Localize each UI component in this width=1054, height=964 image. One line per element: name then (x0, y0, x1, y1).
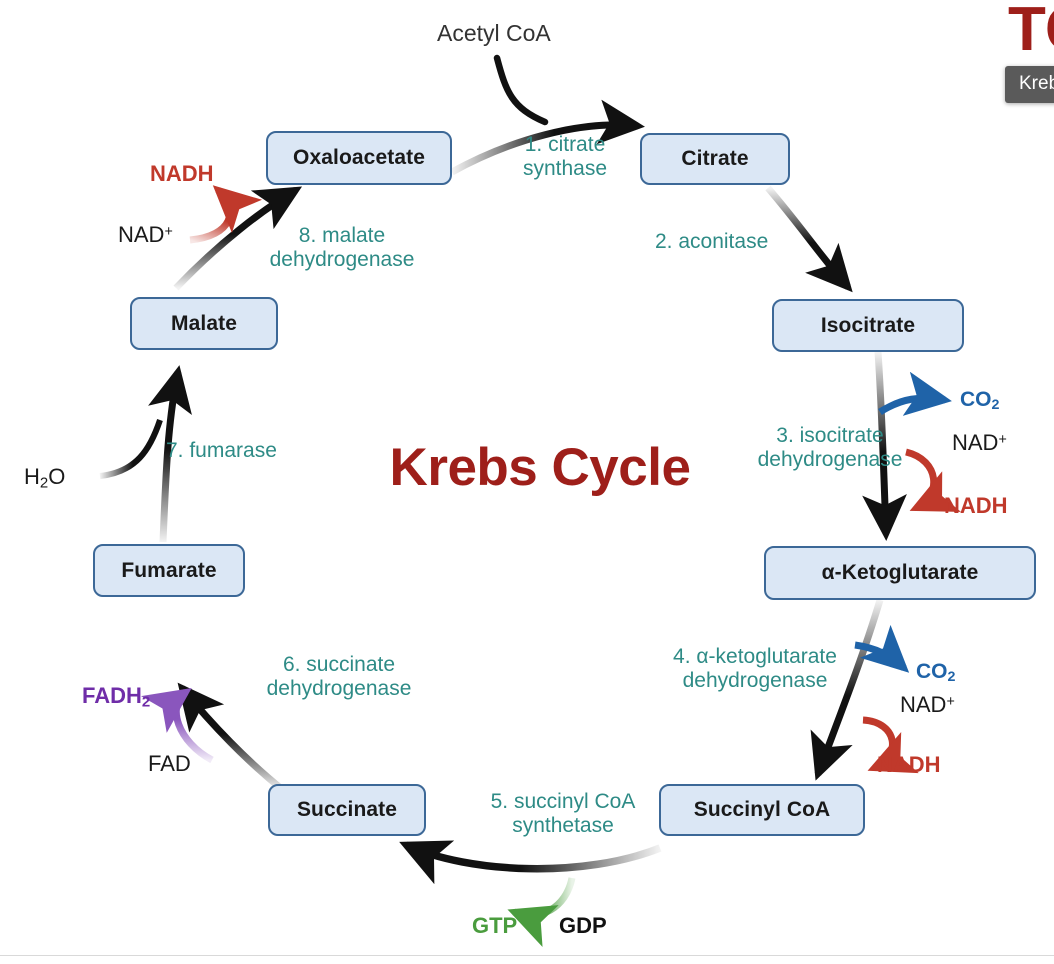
node-isocitrate[interactable]: Isocitrate (772, 299, 964, 352)
node-succinate-label: Succinate (297, 798, 397, 822)
node-citrate[interactable]: Citrate (640, 133, 790, 185)
enzyme-label-3: 3. isocitrate dehydrogenase (735, 424, 925, 472)
cofactor-nad-step-4: NAD+ (900, 692, 955, 718)
arrow-nadh-step-8 (190, 190, 230, 240)
node-oxaloacetate[interactable]: Oxaloacetate (266, 131, 452, 185)
enzyme-label-6: 6. succinate dehydrogenase (243, 653, 435, 701)
cofactor-nadh-step-3: NADH (944, 493, 1008, 519)
arrow-step-6 (182, 688, 283, 790)
cofactor-nad-top: NAD+ (118, 222, 173, 248)
node-alpha-ketoglutarate-label: α-Ketoglutarate (822, 561, 979, 585)
node-oxaloacetate-label: Oxaloacetate (293, 146, 425, 170)
node-isocitrate-label: Isocitrate (821, 314, 915, 338)
bottom-divider (0, 955, 1054, 956)
site-logo-fragment[interactable]: TC (1008, 0, 1054, 65)
node-succinate[interactable]: Succinate (268, 784, 426, 836)
cofactor-fadh2: FADH2 (82, 683, 150, 710)
cofactor-gdp: GDP (559, 913, 607, 939)
enzyme-label-5: 5. succinyl CoA synthetase (468, 790, 658, 838)
node-citrate-label: Citrate (681, 147, 748, 171)
enzyme-label-2: 2. aconitase (655, 230, 815, 254)
cofactor-fad: FAD (148, 751, 191, 777)
node-succinyl-coa[interactable]: Succinyl CoA (659, 784, 865, 836)
arrow-gtp (514, 878, 572, 915)
krebs-cycle-diagram: Acetyl CoA Krebs Cycle Oxaloacetate Citr… (0, 0, 1054, 964)
acetyl-coa-label: Acetyl CoA (437, 20, 551, 47)
cofactor-co2-step-4: CO2 (916, 660, 955, 685)
node-malate-label: Malate (171, 312, 237, 336)
arrow-acetyl-coa-in (497, 58, 545, 122)
node-alpha-ketoglutarate[interactable]: α-Ketoglutarate (764, 546, 1036, 600)
tooltip-popup: Krebs (1005, 66, 1054, 103)
cofactor-water: H2O (24, 464, 65, 491)
arrow-water-in (100, 420, 160, 476)
cofactor-gtp: GTP (472, 913, 517, 939)
arrow-co2-step-3 (880, 398, 945, 412)
cofactor-co2-step-3: CO2 (960, 388, 999, 413)
enzyme-label-8: 8. malate dehydrogenase (253, 224, 431, 272)
arrow-fadh2 (176, 692, 212, 760)
enzyme-label-4: 4. α-ketoglutarate dehydrogenase (640, 645, 870, 693)
arrow-step-5 (406, 845, 660, 869)
cofactor-nadh-top: NADH (150, 161, 214, 187)
enzyme-label-1: 1. citrate synthase (500, 133, 630, 181)
diagram-title: Krebs Cycle (355, 437, 725, 498)
cofactor-nad-step-3: NAD+ (952, 430, 1007, 456)
node-malate[interactable]: Malate (130, 297, 278, 350)
node-fumarate[interactable]: Fumarate (93, 544, 245, 597)
enzyme-label-7: 7. fumarase (166, 439, 318, 463)
cofactor-nadh-step-4: NADH (877, 752, 941, 778)
node-succinyl-coa-label: Succinyl CoA (694, 798, 831, 822)
node-fumarate-label: Fumarate (121, 559, 216, 583)
